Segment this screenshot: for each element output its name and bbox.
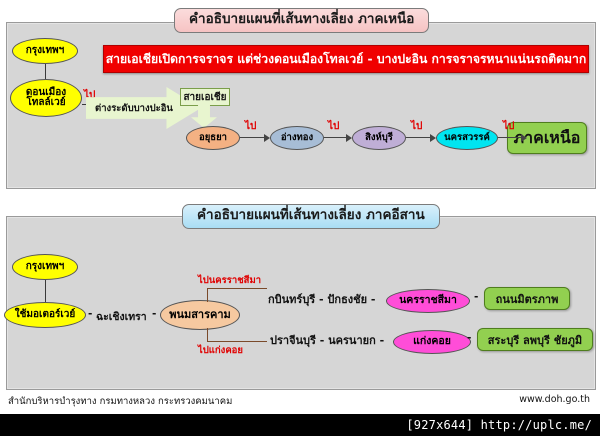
node-chachoengsao: ฉะเชิงเทรา: [96, 308, 147, 325]
diagram-canvas: คำอธิบายแผนที่เส้นทางเลี่ยง ภาคเหนือ สาย…: [0, 0, 600, 436]
footer-organization: สำนักบริหารบำรุงทาง กรมทางหลวง กระทรวงคม…: [8, 394, 232, 409]
node-ayutthaya: อยุธยา: [186, 126, 240, 150]
arrow-ayutthaya-angthong: [240, 133, 270, 143]
connector-bangkok-motorway: [45, 280, 46, 302]
branch-connector-lower-horizontal: [207, 341, 267, 342]
watermark-bar: [927x644] http://uplc.me/: [0, 414, 600, 436]
node-donmuang-tollway: ดอนเมือง โทลล์เวย์: [10, 79, 82, 117]
separator-dash-1: -: [88, 308, 92, 320]
node-phanomsarakham: พนมสารคาม: [160, 300, 240, 330]
branch-connector-lower-vertical: [207, 328, 208, 342]
traffic-alert-banner: สายเอเชียเปิดการจราจร แต่ช่วงดอนเมืองโทล…: [103, 45, 589, 73]
node-nakhonsawan: นครสวรรค์: [436, 126, 498, 150]
separator-dash-4: -: [467, 332, 471, 344]
node-angthong: อ่างทอง: [270, 126, 324, 150]
branch-chain-lower: ปราจีนบุรี - นครนายก -: [270, 331, 384, 349]
branch-connector-upper-vertical: [207, 288, 208, 302]
branch-chain-upper: กบินทร์บุรี - ปักธงชัย -: [268, 290, 375, 308]
go-label-ayutthaya: ไป: [245, 119, 256, 134]
separator-dash-3: -: [474, 291, 478, 303]
node-use-motorway: ใช้มอเตอร์เวย์: [4, 302, 86, 328]
node-mitraphap-road: ถนนมิตรภาพ: [484, 287, 570, 310]
node-nakhonratchasima: นครราชสีมา: [386, 289, 470, 313]
node-kaengkhoi: แก่งคอย: [393, 330, 471, 354]
go-label-angthong: ไป: [328, 119, 339, 134]
node-donmuang-line2: โทลล์เวย์: [26, 98, 65, 109]
arrow-angthong-singburi: [324, 133, 352, 143]
branch-label-to-korat: ไปนครราชสีมา: [198, 273, 261, 288]
node-singburi: สิงห์บุรี: [352, 126, 406, 150]
arrow-singburi-nakhonsawan: [406, 133, 436, 143]
connector-bangkok-donmuang: [45, 64, 46, 79]
footer-website[interactable]: www.doh.go.th: [519, 394, 590, 405]
block-arrow-down-shape: [191, 104, 217, 128]
branch-label-to-kaengkhoi: ไปแก่งคอย: [198, 343, 243, 358]
node-saraburi-lopburi-chaiyaphum: สระบุรี ลพบุรี ชัยภูมิ: [477, 328, 593, 351]
go-label-nakhonsawan: ไป: [503, 119, 514, 134]
branch-connector-upper-horizontal: [207, 288, 267, 289]
node-bangkok-isan: กรุงเทพฯ: [12, 254, 78, 280]
block-arrow-down-to-ayutthaya: [191, 104, 217, 128]
section-title-isan: คำอธิบายแผนที่เส้นทางเลี่ยง ภาคอีสาน: [182, 204, 440, 229]
go-label-singburi: ไป: [411, 119, 422, 134]
arrow-nakhonsawan-north: [498, 133, 527, 143]
separator-dash-2: -: [152, 308, 156, 320]
node-bangkok-north: กรุงเทพฯ: [12, 38, 78, 64]
block-arrow-label: ต่างระดับบางปะอิน: [88, 99, 180, 117]
section-title-north: คำอธิบายแผนที่เส้นทางเลี่ยง ภาคเหนือ: [174, 8, 429, 33]
